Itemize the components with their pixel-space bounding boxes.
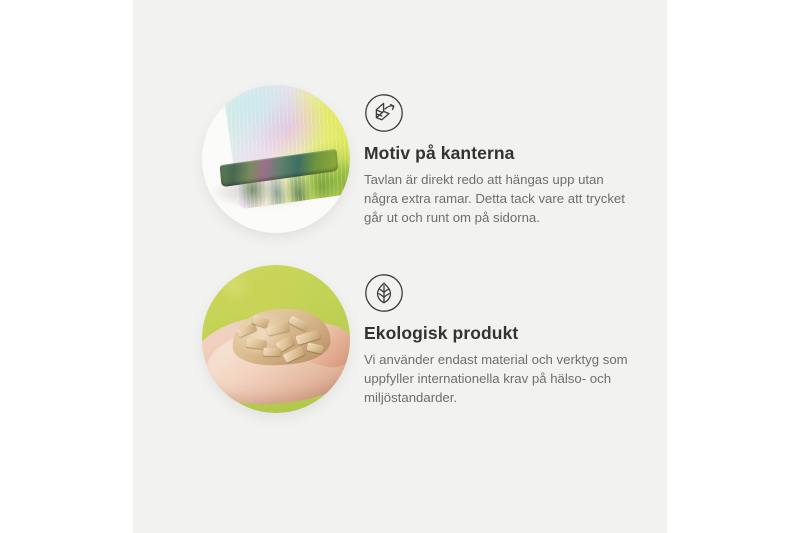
feature-description-edges: Tavlan är direkt redo att hängas upp uta… <box>364 170 636 227</box>
feature-text-edges: Motiv på kanterna Tavlan är direkt redo … <box>364 85 636 228</box>
product-feature-panel: Motiv på kanterna Tavlan är direkt redo … <box>0 0 800 533</box>
content-panel: Motiv på kanterna Tavlan är direkt redo … <box>133 0 667 533</box>
leaf-icon <box>364 273 404 313</box>
feature-title-edges: Motiv på kanterna <box>364 143 636 163</box>
feature-text-eco: Ekologisk produkt Vi använder endast mat… <box>364 265 636 408</box>
canvas-printed-face <box>222 85 350 210</box>
wood-chips-in-hands-photo <box>202 265 350 413</box>
feature-title-eco: Ekologisk produkt <box>364 323 636 343</box>
feature-block-eco: Ekologisk produkt Vi använder endast mat… <box>202 265 636 413</box>
feature-block-edges: Motiv på kanterna Tavlan är direkt redo … <box>202 85 636 233</box>
canvas-print-edge-photo <box>202 85 350 233</box>
feature-description-eco: Vi använder endast material och verktyg … <box>364 350 636 407</box>
canvas-wrapped-edge-icon <box>364 93 404 133</box>
